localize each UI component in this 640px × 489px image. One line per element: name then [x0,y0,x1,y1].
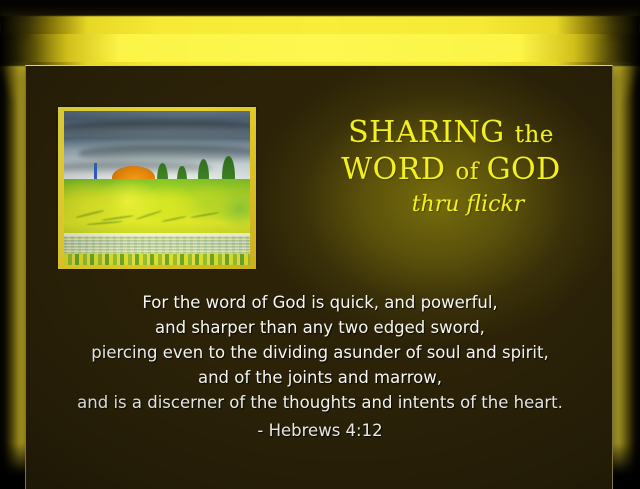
verse-line: piercing even to the dividing asunder of… [26,340,613,365]
verse-line: and is a discerner of the thoughts and i… [26,390,613,415]
slide-canvas: SHARING the WORD of GOD thru flickr For … [0,0,640,489]
photo-frond [75,210,104,220]
photo-frond [135,210,162,221]
verse-line: and sharper than any two edged sword, [26,315,613,340]
heading-the: the [515,122,554,148]
garden-photo [64,111,250,265]
heading-sharing: SHARING [348,115,515,150]
slide-panel: SHARING the WORD of GOD thru flickr For … [25,65,613,489]
photo-water-reflection [64,236,250,256]
heading-line-1: SHARING the [301,118,601,148]
photo-frond [161,215,187,223]
heading-of: of [455,159,486,185]
photo-storm-cloud [64,120,250,138]
heading-line-2: WORD of GOD [301,155,601,185]
heading-word: WORD [341,152,455,187]
verse-line: and of the joints and marrow, [26,365,613,390]
photo-frame [58,107,256,269]
photo-flower-bed [64,254,250,265]
verse-block: For the word of God is quick, and powerf… [26,290,613,443]
verse-line: For the word of God is quick, and powerf… [26,290,613,315]
top-glow-core [0,34,640,62]
heading-line-3: thru flickr [301,194,601,216]
slide-heading: SHARING the WORD of GOD thru flickr [301,118,601,216]
photo-foliage [64,179,250,241]
photo-frond [86,220,123,225]
verse-reference: - Hebrews 4:12 [26,418,613,443]
heading-god: GOD [487,152,561,187]
photo-frond [191,212,221,219]
